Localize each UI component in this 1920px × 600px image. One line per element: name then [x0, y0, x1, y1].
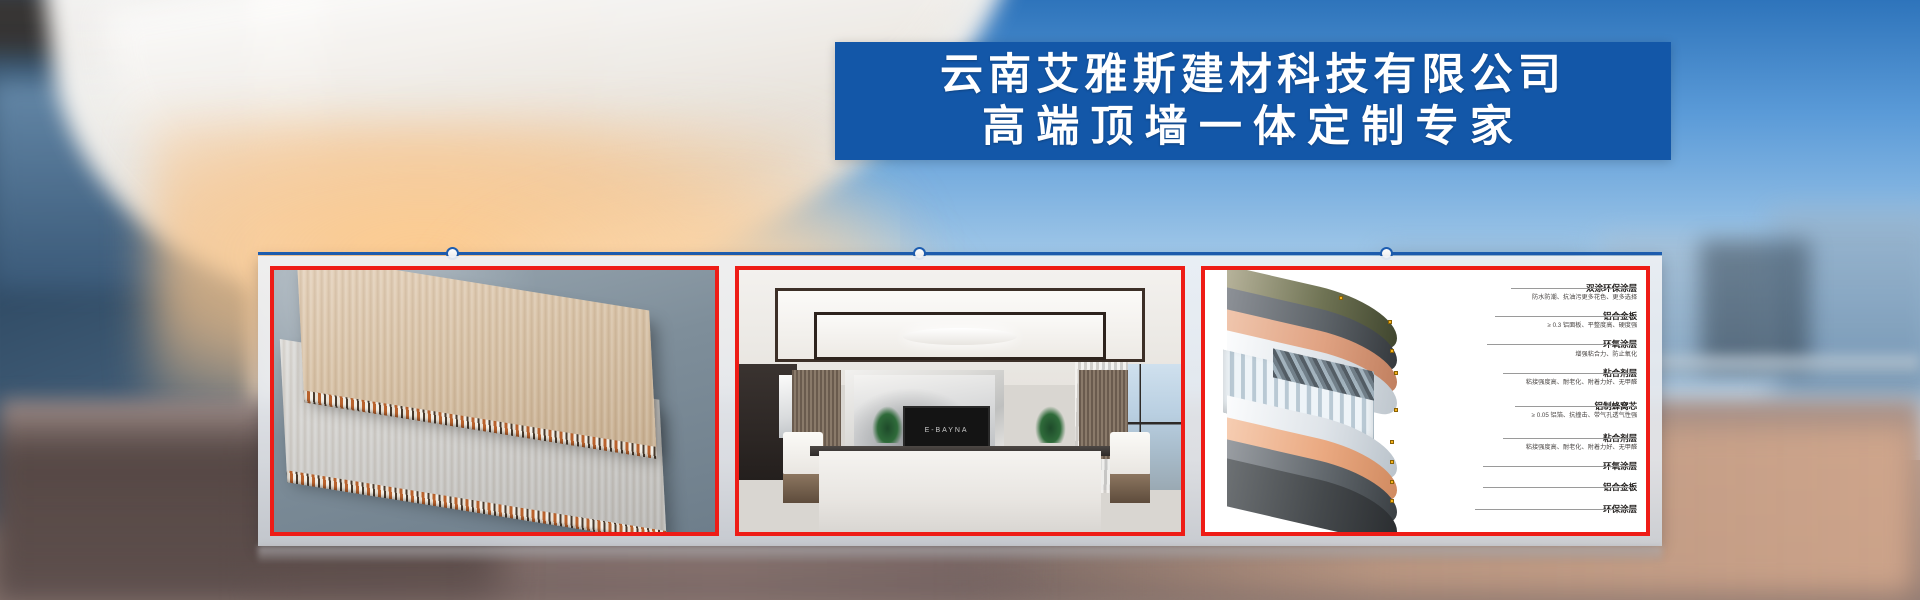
callout-node-6: [1390, 440, 1394, 444]
company-name: 云南艾雅斯建材科技有限公司: [940, 49, 1566, 101]
brand-screen-text: E-BAYNA: [925, 427, 969, 434]
slider-track[interactable]: [258, 252, 1662, 255]
layer-callout-8: 铝合金板: [1434, 482, 1637, 492]
callout-node-8: [1390, 480, 1394, 484]
layer-callout-list: 双涂环保涂层 防水防潮、抗油污更多花色、更多选择 铝合金板 ≥ 0.3 铝面板、…: [1434, 278, 1637, 524]
layer-callout-9: 环保涂层: [1434, 504, 1637, 514]
layer-callout-5: 铝制蜂窝芯 ≥ 0.05 铝箔、抗撞击、带气孔透气性强: [1434, 401, 1637, 420]
callout-node-7: [1390, 460, 1394, 464]
exploded-layer-stack: [1213, 280, 1442, 521]
layer-callout-6: 粘合剂层 粘接强度高、耐老化、附着力好、无甲醛: [1434, 433, 1637, 452]
callout-node-2: [1388, 320, 1392, 324]
product-gallery[interactable]: E-BAYNA: [258, 256, 1662, 546]
interior-render-scene: E-BAYNA: [739, 270, 1180, 532]
dark-window-pane: [1700, 240, 1810, 370]
reception-desk-front: [819, 451, 1101, 532]
company-title-plate: 云南艾雅斯建材科技有限公司 高端顶墙一体定制专家: [835, 42, 1671, 160]
layer-callout-4: 粘合剂层 粘接强度高、耐老化、附着力好、无甲醛: [1434, 368, 1637, 387]
gallery-slide-layer-diagram[interactable]: 双涂环保涂层 防水防潮、抗油污更多花色、更多选择 铝合金板 ≥ 0.3 铝面板、…: [1201, 266, 1650, 536]
callout-node-5: [1394, 408, 1398, 412]
potted-plant-right: [1035, 406, 1066, 443]
lamp-base-left: [783, 474, 823, 503]
gallery-slide-interior-render[interactable]: E-BAYNA: [735, 266, 1184, 536]
oval-ceiling-light: [903, 328, 1018, 345]
callout-node-3: [1390, 349, 1394, 353]
table-lamp-right: [1110, 432, 1150, 474]
gallery-slide-honeycomb-panel[interactable]: [270, 266, 719, 536]
layer-diagram-scene: 双涂环保涂层 防水防潮、抗油污更多花色、更多选择 铝合金板 ≥ 0.3 铝面板、…: [1205, 270, 1646, 532]
layer-desc: 增强粘合力、防止氧化: [1434, 351, 1637, 359]
potted-plant-left: [872, 406, 903, 443]
layer-callout-7: 环氧涂层: [1434, 461, 1637, 471]
callout-node-4: [1394, 371, 1398, 375]
layer-desc: 防水防潮、抗油污更多花色、更多选择: [1434, 294, 1637, 302]
callout-node-1: [1339, 296, 1343, 300]
layer-callout-3: 环氧涂层 增强粘合力、防止氧化: [1434, 339, 1637, 358]
layer-callout-1: 双涂环保涂层 防水防潮、抗油污更多花色、更多选择: [1434, 283, 1637, 302]
layer-desc: ≥ 0.05 铝箔、抗撞击、带气孔透气性强: [1434, 412, 1637, 420]
lamp-base-right: [1110, 474, 1150, 503]
gallery-base-shadow: [258, 546, 1662, 562]
layer-desc: 粘接强度高、耐老化、附着力好、无甲醛: [1434, 444, 1637, 452]
layer-callout-2: 铝合金板 ≥ 0.3 铝面板、平整度高、硬度强: [1434, 311, 1637, 330]
company-tagline: 高端顶墙一体定制专家: [982, 101, 1524, 153]
layer-desc: 粘接强度高、耐老化、附着力好、无甲醛: [1434, 379, 1637, 387]
callout-node-9: [1390, 499, 1394, 503]
layer-desc: ≥ 0.3 铝面板、平整度高、硬度强: [1434, 322, 1637, 330]
